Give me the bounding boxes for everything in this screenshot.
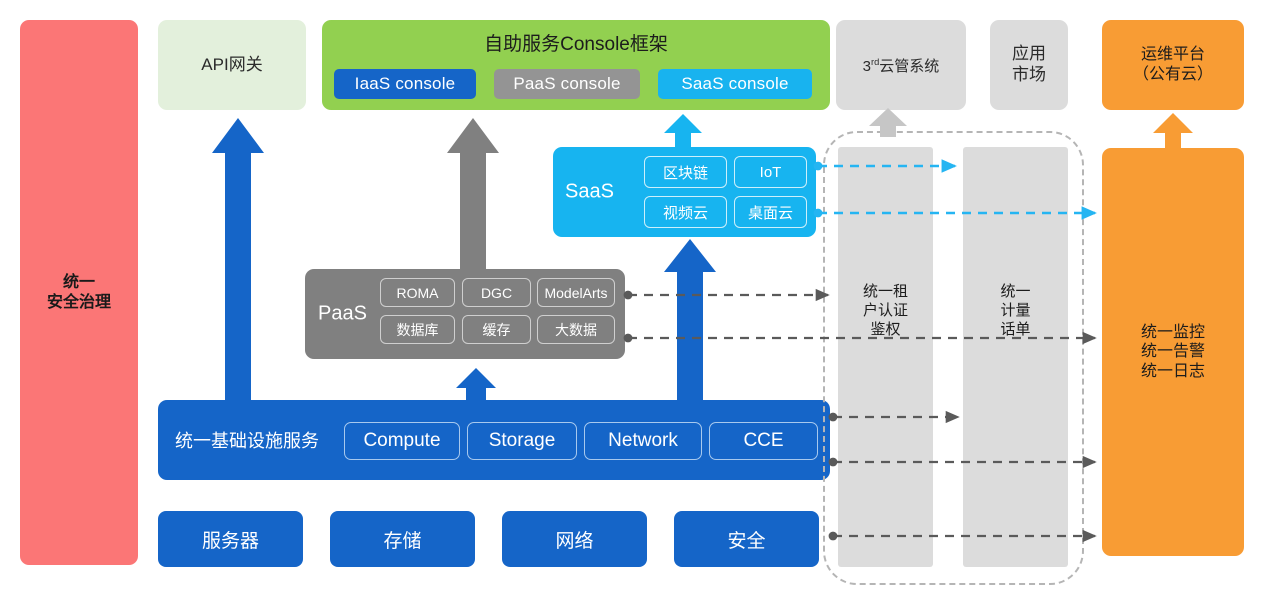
ops-platform-public-cloud-box: 运维平台 （公有云）	[1102, 20, 1244, 110]
resource-box-security[interactable]: 安全	[674, 511, 819, 567]
iaas-console-chip[interactable]: IaaS console	[334, 69, 476, 99]
paas-item-modelarts[interactable]: ModelArts	[537, 278, 615, 307]
arrow-saas-to-saas-console	[664, 114, 702, 147]
paas-item-cache[interactable]: 缓存	[462, 315, 531, 344]
api-gateway-label: API网关	[201, 55, 262, 76]
third-party-cloud-management-box: 3rd云管系统	[836, 20, 966, 110]
infra-item-cce[interactable]: CCE	[709, 422, 818, 460]
resource-box-network[interactable]: 网络	[502, 511, 647, 567]
unified-infrastructure-service-title: 统一基础设施服务	[175, 427, 319, 453]
paas-item-dgc[interactable]: DGC	[462, 278, 531, 307]
unified-security-governance-label: 统一 安全治理	[47, 273, 111, 312]
console-frame-title: 自助服务Console框架	[322, 29, 830, 56]
saas-item-desktop-cloud[interactable]: 桌面云	[734, 196, 807, 228]
shared-service-metering-label: 统一 计量 话单	[963, 283, 1068, 339]
architecture-diagram: 统一 安全治理 API网关 自助服务Console框架 IaaS console…	[0, 0, 1265, 605]
saas-console-chip[interactable]: SaaS console	[658, 69, 812, 99]
shared-service-auth-label: 统一租 户认证 鉴权	[838, 283, 933, 339]
app-market-box: 应用 市场	[990, 20, 1068, 110]
infra-item-compute[interactable]: Compute	[344, 422, 460, 460]
infra-item-storage[interactable]: Storage	[467, 422, 577, 460]
arrow-infra-to-saas	[664, 239, 716, 400]
saas-layer-title: SaaS	[565, 181, 614, 204]
paas-layer: PaaS ROMA DGC ModelArts 数据库 缓存 大数据	[305, 269, 625, 359]
saas-item-video-cloud[interactable]: 视频云	[644, 196, 727, 228]
app-market-label: 应用 市场	[1012, 44, 1046, 85]
third-party-cloud-management-label: 3rd云管系统	[863, 55, 940, 76]
self-service-console-frame: 自助服务Console框架 IaaS console PaaS console …	[322, 20, 830, 110]
saas-layer: SaaS 区块链 IoT 视频云 桌面云	[553, 147, 816, 237]
resource-box-server[interactable]: 服务器	[158, 511, 303, 567]
unified-infrastructure-service-bar: 统一基础设施服务 Compute Storage Network CCE	[158, 400, 830, 480]
arrow-paas-to-console	[447, 118, 499, 269]
arrow-infra-to-api-gateway	[212, 118, 264, 400]
paas-item-roma[interactable]: ROMA	[380, 278, 455, 307]
saas-item-blockchain[interactable]: 区块链	[644, 156, 727, 188]
saas-item-iot[interactable]: IoT	[734, 156, 807, 188]
paas-layer-title: PaaS	[318, 303, 367, 326]
paas-item-bigdata[interactable]: 大数据	[537, 315, 615, 344]
paas-console-chip[interactable]: PaaS console	[494, 69, 640, 99]
unified-monitoring-label: 统一监控 统一告警 统一日志	[1141, 323, 1205, 382]
infra-item-network[interactable]: Network	[584, 422, 702, 460]
unified-monitoring-column: 统一监控 统一告警 统一日志	[1102, 148, 1244, 556]
unified-security-governance-panel: 统一 安全治理	[20, 20, 138, 565]
resource-box-storage[interactable]: 存储	[330, 511, 475, 567]
shared-service-column-auth	[838, 147, 933, 567]
arrow-infra-to-paas	[456, 368, 496, 400]
api-gateway-box: API网关	[158, 20, 306, 110]
ops-platform-public-cloud-label: 运维平台 （公有云）	[1133, 45, 1213, 84]
arrow-ops-column-to-ops-platform	[1153, 113, 1193, 148]
paas-item-database[interactable]: 数据库	[380, 315, 455, 344]
shared-service-column-metering	[963, 147, 1068, 567]
